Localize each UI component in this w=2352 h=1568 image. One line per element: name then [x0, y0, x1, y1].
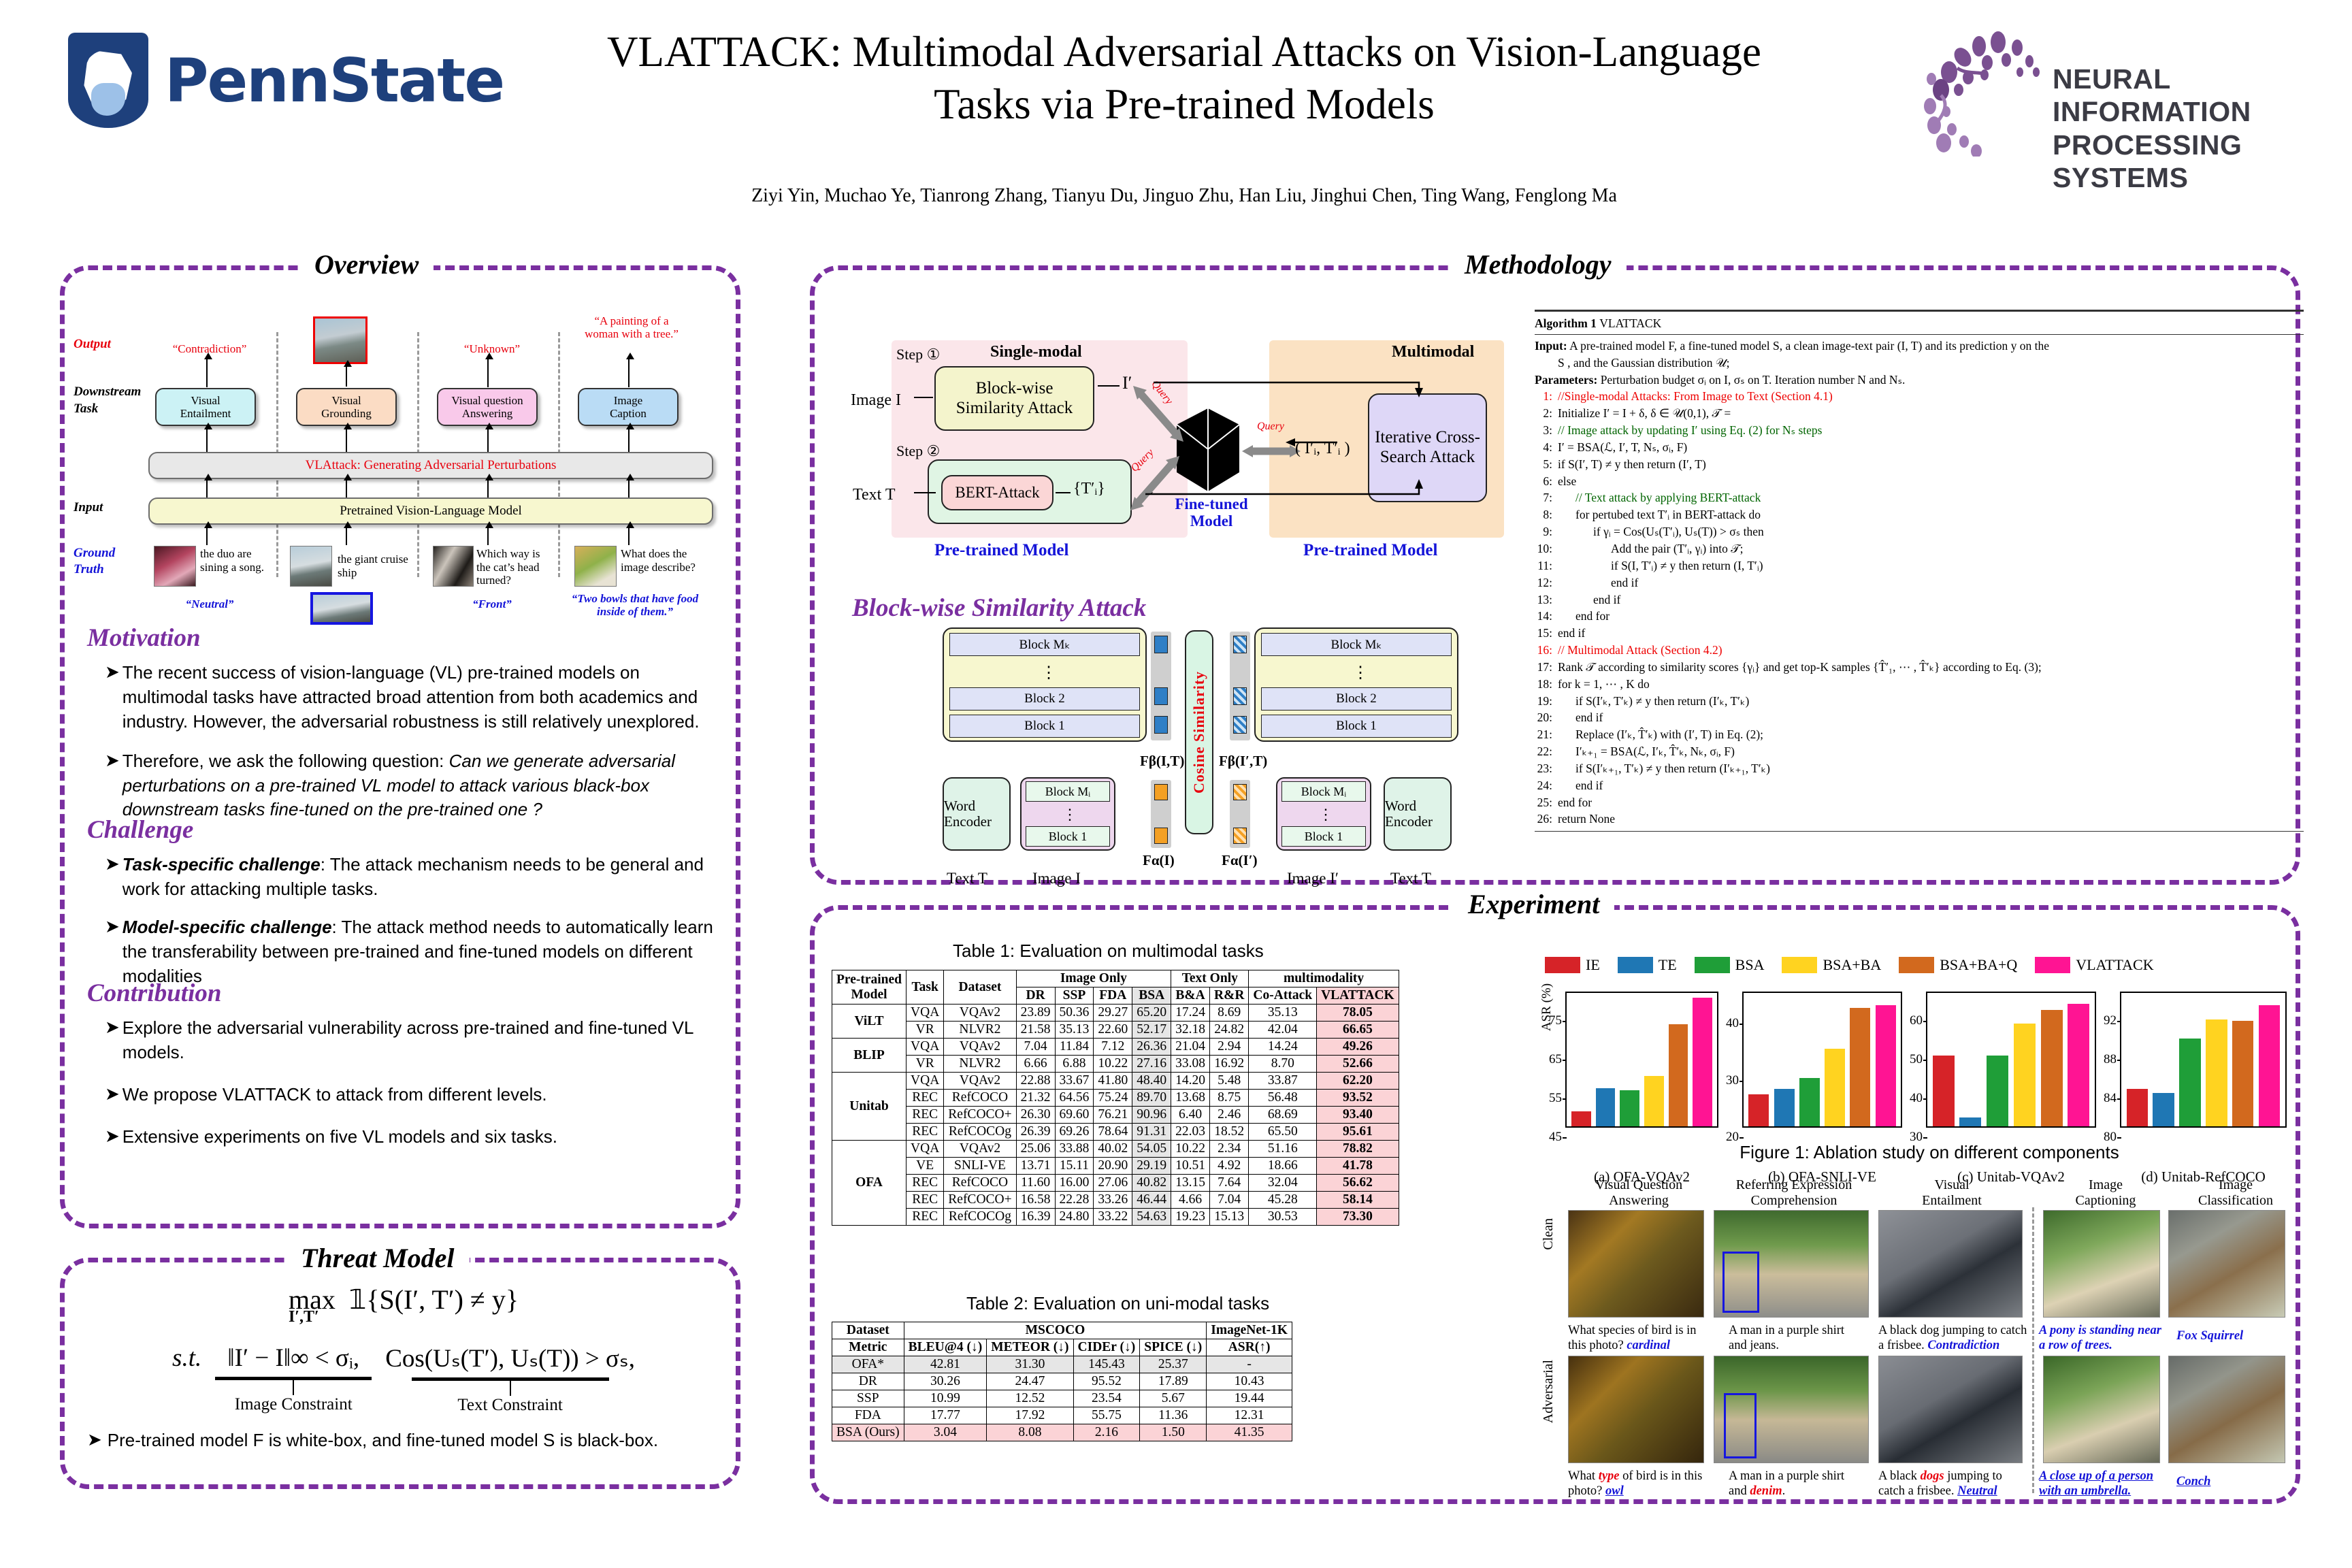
legend-swatch	[1782, 957, 1817, 973]
cell-value: 10.43	[1207, 1373, 1292, 1390]
th-dataset: Dataset	[832, 1322, 904, 1339]
chip-right-1	[1233, 716, 1247, 734]
chip-left-2	[1154, 687, 1168, 705]
chip-right-mk	[1233, 636, 1247, 653]
qual-head-line1: Image	[2164, 1177, 2307, 1193]
table-row: ViLTVQAVQAv223.8950.3629.2765.2017.248.6…	[832, 1004, 1399, 1022]
th-metric: B&A	[1171, 987, 1210, 1004]
bsa-image-right-label: Image I′	[1287, 870, 1339, 887]
qual-head-line1: Visual Question	[1564, 1177, 1714, 1193]
legend-item: VLATTACK	[2035, 956, 2153, 974]
cell-value: 2.94	[1210, 1039, 1249, 1056]
cell-value: 19.44	[1207, 1390, 1292, 1407]
algorithm-line-text: end if	[1558, 574, 1638, 591]
objective-body: 𝟙{S(I′, T′) ≠ y}	[349, 1284, 519, 1315]
title-block: VLATTACK: Multimodal Adversarial Attacks…	[585, 26, 1783, 131]
algorithm-line: 14:end for	[1535, 608, 2304, 625]
cell-value: 10.22	[1171, 1141, 1210, 1158]
cell-value: 14.24	[1249, 1039, 1317, 1056]
qual-clean-image-3	[2043, 1210, 2160, 1318]
cell-value: 93.40	[1317, 1107, 1399, 1124]
cell-value: 10.51	[1171, 1158, 1210, 1175]
cell-value: 12.52	[987, 1390, 1073, 1407]
arrow-input-3	[628, 527, 630, 545]
qual-col-head-0: Visual Question Answering	[1564, 1177, 1714, 1209]
cell-value: 24.80	[1055, 1209, 1094, 1226]
qual-head-line2: Answering	[1564, 1193, 1714, 1209]
task-line-2: Grounding	[321, 407, 372, 420]
algorithm-line-number: 9:	[1535, 523, 1558, 540]
algorithm-line-number: 8:	[1535, 506, 1558, 523]
cell-value: 76.21	[1094, 1107, 1132, 1124]
bsa-left-block-1: Block 1	[949, 715, 1140, 738]
cell-value: 8.69	[1210, 1004, 1249, 1022]
cell-value: 21.32	[1016, 1090, 1055, 1107]
cell-value: 145.43	[1073, 1356, 1140, 1373]
block-wise-similarity-attack-box[interactable]: Block-wise Similarity Attack	[934, 366, 1094, 431]
input-thumbnail-1	[290, 546, 332, 587]
legend-swatch	[1899, 957, 1934, 973]
task-box-visual-grounding[interactable]: Visual Grounding	[296, 388, 397, 426]
th-dataset: Dataset	[944, 970, 1016, 1004]
cell-value: 6.88	[1055, 1056, 1094, 1073]
motivation-bullet-2-lead: Therefore, we ask the following question…	[122, 751, 449, 771]
cell-value: 1.50	[1140, 1424, 1207, 1441]
task-line-1: Visual	[191, 394, 220, 407]
qual-clean-caption-2-accent: Contradiction	[1927, 1339, 1999, 1352]
row-label-downstream: Downstream	[73, 385, 141, 399]
th-metric: Co-Attack	[1249, 987, 1317, 1004]
bar-BSA+BA	[1644, 1076, 1664, 1126]
cell-value: 17.92	[987, 1407, 1073, 1424]
qual-adv-image-2	[1878, 1356, 2023, 1463]
adv-cap-0-pre: What	[1568, 1469, 1599, 1483]
image-constraint-formula: ‖I′ − I‖∞ < σᵢ,	[215, 1343, 372, 1373]
cell-value: 35.13	[1055, 1022, 1094, 1039]
qual-adv-image-4	[2168, 1356, 2285, 1463]
algorithm-header-name: VLATTACK	[1599, 316, 1661, 330]
f-beta-left-label: Fβ(I,T)	[1140, 753, 1184, 770]
input-text-2: Which way is the cat’s head turned?	[476, 547, 557, 587]
qual-clean-bbox-1	[1722, 1252, 1759, 1313]
cell-value: 16.58	[1016, 1192, 1055, 1209]
bar-IE	[1933, 1056, 1955, 1126]
algorithm-line: 15:end if	[1535, 625, 2304, 642]
bar-BSA	[1987, 1056, 2008, 1126]
chart-panel-2: 30405060(c) Unitab-VQAv2	[1926, 992, 2096, 1128]
cell-value: -	[1207, 1356, 1292, 1373]
bullet-arrow-icon: ➤	[105, 1083, 120, 1107]
algorithm-line-text: //Single-modal Attacks: From Image to Te…	[1558, 388, 1833, 405]
algorithm-line-text: return None	[1558, 811, 1615, 828]
cell-value: 16.39	[1016, 1209, 1055, 1226]
cell-value: 78.82	[1317, 1141, 1399, 1158]
f-alpha-right-label: Fα(I′)	[1222, 852, 1258, 869]
algorithm-line-number: 20:	[1535, 709, 1558, 726]
table-row: RECRefCOCO11.6016.0027.0640.8213.157.643…	[832, 1175, 1399, 1192]
table-2-caption: Table 2: Evaluation on uni-modal tasks	[966, 1293, 1269, 1314]
arrow-input-2	[487, 527, 489, 545]
bar-TE	[1596, 1088, 1616, 1126]
cell-value: 21.04	[1171, 1039, 1210, 1056]
y-tick: 50	[1910, 1052, 1927, 1067]
chart-panel-3: 80848892(d) Unitab-RefCOCO	[2120, 992, 2287, 1128]
cell-dataset: VQAv2	[944, 1073, 1016, 1090]
cell-value: 58.14	[1317, 1192, 1399, 1209]
f-beta-right-label: Fβ(I′,T)	[1219, 753, 1267, 770]
bsa-left-small-1: Block 1	[1026, 826, 1110, 847]
bar-IE	[1571, 1111, 1591, 1126]
adv-cap-1-red: denim	[1750, 1484, 1782, 1498]
cell-value: 65.50	[1249, 1124, 1317, 1141]
cell-value: 69.60	[1055, 1107, 1094, 1124]
table-row: RECRefCOCOg26.3969.2678.6491.3122.0318.5…	[832, 1124, 1399, 1141]
multimodal-label: Multimodal	[1392, 343, 1474, 361]
cell-value: 26.30	[1016, 1107, 1055, 1124]
qualitative-column-divider	[2032, 1207, 2034, 1493]
bsa-left-small-mi: Block Mᵢ	[1026, 781, 1110, 802]
task-box-visual-question-answering[interactable]: Visual question Answering	[437, 388, 538, 426]
cell-dataset: NLVR2	[944, 1056, 1016, 1073]
qual-clean-image-1	[1714, 1210, 1869, 1318]
qual-adv-bbox-1	[1724, 1393, 1757, 1458]
motivation-bullet-1-text: The recent success of vision-language (V…	[122, 661, 727, 734]
qual-col-head-3: Image Captioning	[2038, 1177, 2174, 1209]
bsa-right-small-mi: Block Mᵢ	[1281, 781, 1366, 802]
motivation-bullet-2: ➤ Therefore, we ask the following questi…	[105, 749, 727, 823]
cell-value: 40.02	[1094, 1141, 1132, 1158]
cell-value: 5.67	[1140, 1390, 1207, 1407]
cell-value: 8.75	[1210, 1090, 1249, 1107]
chip-alpha-left-mi	[1154, 784, 1168, 800]
cell-value: 91.31	[1132, 1124, 1171, 1141]
text-input-label: Text T	[853, 486, 896, 504]
algorithm-line-number: 26:	[1535, 811, 1558, 828]
cell-dataset: RefCOCO	[944, 1175, 1016, 1192]
algorithm-line-text: Add the pair (T′ᵢ, γᵢ) into 𝒯;	[1558, 540, 1743, 557]
arrow-task-1	[346, 429, 347, 452]
cell-value: 42.81	[904, 1356, 987, 1373]
iterative-cross-search-attack-box[interactable]: Iterative Cross-Search Attack	[1368, 393, 1487, 502]
table-row: RECRefCOCO21.3264.5675.2489.7013.688.755…	[832, 1090, 1399, 1107]
legend-item: IE	[1545, 956, 1600, 974]
legend-swatch	[1545, 957, 1580, 973]
arrow-bert-out	[1056, 492, 1071, 493]
cell-value: 89.70	[1132, 1090, 1171, 1107]
cell-task: REC	[906, 1192, 944, 1209]
overview-figure: Output Downstream Task Input Ground Trut…	[73, 293, 727, 578]
legend-label: IE	[1586, 956, 1600, 974]
table-row: OFAVQAVQAv225.0633.8840.0254.0510.222.34…	[832, 1141, 1399, 1158]
step-1-label: Step ①	[896, 346, 940, 363]
cell-value: 69.26	[1055, 1124, 1094, 1141]
algorithm-line: 4:I′ = BSA(ℒ, I′, T, Nₛ, σᵢ, F)	[1535, 439, 2304, 456]
th-metric-name: BLEU@4 (↓)	[904, 1339, 987, 1356]
th-metric: VLATTACK	[1317, 987, 1399, 1004]
algorithm-line: 6:else	[1535, 473, 2304, 490]
cell-value: 3.04	[904, 1424, 987, 1441]
author-list: Ziyi Yin, Muchao Ye, Tianrong Zhang, Tia…	[585, 185, 1783, 207]
algorithm-line-text: if S(I′ₖ₊₁, T′ₖ) ≠ y then return (I′ₖ₊₁,…	[1558, 760, 1770, 777]
cell-value: 33.67	[1055, 1073, 1094, 1090]
algorithm-line-text: if S(I′ₖ, T′ₖ) ≠ y then return (I′ₖ, T′ₖ…	[1558, 693, 1749, 710]
challenge-1-label: Task-specific challenge	[122, 854, 321, 875]
row-label-truth: Truth	[73, 562, 104, 577]
bar-BSA	[1799, 1078, 1820, 1126]
algorithm-line-text: I′ = BSA(ℒ, I′, T, Nₛ, σᵢ, F)	[1558, 439, 1687, 456]
contribution-section: Contribution ➤ Explore the adversarial v…	[87, 979, 727, 1149]
cell-value: 13.68	[1171, 1090, 1210, 1107]
algorithm-header-bold: Algorithm 1	[1535, 316, 1597, 330]
qual-col-head-1: Referring Expression Comprehension	[1719, 1177, 1869, 1209]
qual-adv-image-3	[2043, 1356, 2160, 1463]
cell-value: 41.80	[1094, 1073, 1132, 1090]
cell-name: DR	[832, 1373, 904, 1390]
chip-left-1	[1154, 716, 1168, 734]
bsa-figure: Block Mₖ ⋮ Block 2 Block 1 Block Mₖ ⋮ Bl…	[854, 599, 1494, 857]
task-line-2: Entailment	[180, 407, 231, 420]
y-tick: 75	[1549, 1013, 1567, 1028]
cell-value: 41.78	[1317, 1158, 1399, 1175]
legend-label: BSA+BA+Q	[1940, 956, 2017, 974]
adv-cap-1-mid: .	[1782, 1484, 1786, 1498]
bsa-right-block-1: Block 1	[1261, 715, 1452, 738]
row-label-input: Input	[73, 500, 103, 515]
cell-value: 14.20	[1171, 1073, 1210, 1090]
bar-IE	[2127, 1089, 2148, 1126]
challenge-bullet-1: ➤ Task-specific challenge: The attack me…	[105, 853, 727, 902]
algorithm-line-text: if γᵢ = Cos(Uₛ(T′ᵢ), Uₛ(T)) > σₛ then	[1558, 523, 1764, 540]
qual-clean-image-4	[2168, 1210, 2285, 1318]
task-box-image-caption[interactable]: Image Caption	[578, 388, 679, 426]
chip-alpha-right-1	[1233, 828, 1247, 844]
algorithm-line: 8:for pertubed text T′ᵢ in BERT-attack d…	[1535, 506, 2304, 523]
algorithm-line-number: 15:	[1535, 625, 1558, 642]
arrow-bar-1	[346, 480, 347, 497]
bert-attack-box[interactable]: BERT-Attack	[941, 475, 1053, 510]
th-mscoco: MSCOCO	[904, 1322, 1207, 1339]
qual-clean-caption-4: Fox Squirrel	[2176, 1328, 2299, 1343]
subject-to-label: s.t.	[172, 1343, 201, 1373]
table-row: VRNLVR221.5835.1322.6052.1732.1824.8242.…	[832, 1022, 1399, 1039]
algorithm-line-number: 13:	[1535, 591, 1558, 608]
text-constraint-label: Text Constraint	[385, 1396, 635, 1415]
qual-head-line1: Visual	[1877, 1177, 2027, 1193]
algorithm-line-text: // Text attack by applying BERT-attack	[1558, 489, 1761, 506]
algorithm-line-text: // Multimodal Attack (Section 4.2)	[1558, 642, 1722, 659]
bar-TE	[2153, 1093, 2174, 1126]
cell-value: 49.26	[1317, 1039, 1399, 1056]
ground-truth-0: “Neutral”	[155, 598, 264, 610]
cell-dataset: RefCOCOg	[944, 1124, 1016, 1141]
objective-subscript: I′,T′	[289, 1308, 319, 1326]
cell-value: 8.70	[1249, 1056, 1317, 1073]
cell-value: 18.52	[1210, 1124, 1249, 1141]
neurips-line-2: PROCESSING SYSTEMS	[2053, 129, 2325, 195]
algorithm-line-text: end if	[1558, 591, 1620, 608]
cell-value: 40.82	[1132, 1175, 1171, 1192]
legend-swatch	[1618, 957, 1653, 973]
qual-col-head-4: Image Classification	[2164, 1177, 2307, 1209]
bar-BSA	[1620, 1090, 1639, 1126]
overview-panel-title: Overview	[299, 248, 434, 280]
penn-state-logo: PennState	[68, 33, 504, 128]
ground-truth-2: “Front”	[441, 598, 543, 610]
algorithm-line-text: end for	[1558, 794, 1592, 811]
chart-legend: IETEBSABSA+BABSA+BA+QVLATTACK	[1545, 956, 2314, 974]
bsa-right-vdots: ⋮	[1352, 663, 1369, 683]
cell-value: 50.36	[1055, 1004, 1094, 1022]
legend-label: BSA+BA	[1823, 956, 1881, 974]
algorithm-line-text: Rank 𝒯 according to similarity scores {γ…	[1558, 659, 2042, 676]
table-row: RECRefCOCOg16.3924.8033.2254.6319.2315.1…	[832, 1209, 1399, 1226]
cell-value: 6.40	[1171, 1107, 1210, 1124]
neurips-line-1: NEURAL INFORMATION	[2053, 63, 2325, 129]
adv-cap-2-pre: A black	[1878, 1469, 1921, 1483]
table-row: BLIPVQAVQAv27.0411.847.1226.3621.042.941…	[832, 1039, 1399, 1056]
step-2-label: Step ②	[896, 442, 940, 460]
y-tick: 65	[1549, 1052, 1567, 1067]
qual-head-line2: Classification	[2164, 1193, 2307, 1209]
cell-value: 19.23	[1171, 1209, 1210, 1226]
contribution-item-0: ➤ Explore the adversarial vulnerability …	[105, 1016, 727, 1065]
cell-value: 5.48	[1210, 1073, 1249, 1090]
algorithm-input-text-b: S , and the Gaussian distribution 𝒰;	[1535, 355, 2304, 372]
algorithm-line: 11:if S(I, T′ᵢ) ≠ y then return (I, T′ᵢ)	[1535, 557, 2304, 574]
cell-task: VQA	[906, 1141, 944, 1158]
algorithm-input-row: Input: A pre-trained model F, a fine-tun…	[1535, 338, 2304, 355]
y-tick: 88	[2104, 1052, 2121, 1067]
legend-swatch	[1695, 957, 1730, 973]
y-tick: 84	[2104, 1091, 2121, 1106]
cell-value: 27.16	[1132, 1056, 1171, 1073]
cell-value: 65.20	[1132, 1004, 1171, 1022]
th-metric: R&R	[1210, 987, 1249, 1004]
cell-dataset: VQAv2	[944, 1039, 1016, 1056]
qual-clean-caption-1: A man in a purple shirt and jeans.	[1729, 1323, 1865, 1353]
bar-group	[2121, 993, 2285, 1126]
adv-cap-3-blue: A close up of a person with an umbrella.	[2039, 1469, 2153, 1498]
bsa-right-block-2: Block 2	[1261, 687, 1452, 710]
cell-value: 29.19	[1132, 1158, 1171, 1175]
adv-cap-0-blue: owl	[1605, 1484, 1624, 1498]
contribution-item-2-text: Extensive experiments on five VL models …	[122, 1125, 557, 1149]
algorithm-lines: 1://Single-modal Attacks: From Image to …	[1535, 388, 2304, 828]
algorithm-line-text: for pertubed text T′ᵢ in BERT-attack do	[1558, 506, 1761, 523]
algorithm-line-number: 11:	[1535, 557, 1558, 574]
contribution-item-1-text: We propose VLATTACK to attack from diffe…	[122, 1083, 547, 1107]
task-box-visual-entailment[interactable]: Visual Entailment	[155, 388, 256, 426]
experiment-panel-title: Experiment	[1453, 888, 1614, 920]
arrow-task-0	[206, 429, 208, 452]
cell-value: 26.36	[1132, 1039, 1171, 1056]
table-row: RECRefCOCO+26.3069.6076.2190.966.402.466…	[832, 1107, 1399, 1124]
cell-value: 46.44	[1132, 1192, 1171, 1209]
algorithm-line: 18:for k = 1, ⋯ , K do	[1535, 676, 2304, 693]
page-title: VLATTACK: Multimodal Adversarial Attacks…	[585, 26, 1783, 131]
cell-value: 2.46	[1210, 1107, 1249, 1124]
qual-clean-caption-1-plain: A man in a purple shirt and jeans.	[1729, 1324, 1844, 1352]
bar-BSA+BA	[1825, 1049, 1845, 1126]
table-1-caption: Table 1: Evaluation on multimodal tasks	[953, 941, 1264, 962]
challenge-bullet-2: ➤ Model-specific challenge: The attack m…	[105, 915, 727, 989]
qual-clean-caption-2: A black dog jumping to catch a frisbee. …	[1878, 1323, 2029, 1353]
qual-adv-image-1	[1714, 1356, 1869, 1463]
pretrained-model-left-label: Pre-trained Model	[934, 541, 1068, 560]
cell-value: 33.88	[1055, 1141, 1094, 1158]
cell-value: 51.16	[1249, 1141, 1317, 1158]
algorithm-line-text: for k = 1, ⋯ , K do	[1558, 676, 1650, 693]
algorithm-line: 3:// Image attack by updating I′ using E…	[1535, 422, 2304, 439]
bar-group	[1927, 993, 2095, 1126]
input-thumbnail-3	[574, 546, 617, 587]
chip-alpha-right-mi	[1233, 784, 1247, 800]
word-encoder-left: Word Encoder	[943, 777, 1011, 851]
algorithm-line-text: end if	[1558, 777, 1603, 794]
cell-value: 17.77	[904, 1407, 987, 1424]
algorithm-line-number: 23:	[1535, 760, 1558, 777]
bar-VLATTACK	[2259, 1005, 2280, 1126]
bsa-text-right-label: Text T	[1390, 870, 1431, 887]
algorithm-params-text: Perturbation budget σᵢ on I, σₛ on T. It…	[1601, 373, 1906, 387]
bar-BSA+BA	[2014, 1024, 2036, 1126]
contribution-heading: Contribution	[87, 979, 727, 1008]
table-1: Pre-trainedModelTaskDatasetImage OnlyTex…	[832, 970, 1399, 1226]
arrow-output-3	[628, 359, 630, 387]
bsa-right-small-1: Block 1	[1281, 826, 1366, 847]
contribution-item-0-text: Explore the adversarial vulnerability ac…	[122, 1016, 727, 1065]
algorithm-line-text: if S(I, T′ᵢ) ≠ y then return (I, T′ᵢ)	[1558, 557, 1763, 574]
bar-VLATTACK	[2068, 1004, 2089, 1126]
cell-task: VE	[906, 1158, 944, 1175]
row-label-output: Output	[73, 337, 111, 352]
cell-value: 20.90	[1094, 1158, 1132, 1175]
threat-note-text: Pre-trained model F is white-box, and fi…	[108, 1430, 658, 1451]
cell-value: 7.04	[1210, 1192, 1249, 1209]
algorithm-line-text: // Image attack by updating I′ using Eq.…	[1558, 422, 1822, 439]
algorithm-line-number: 16:	[1535, 642, 1558, 659]
cell-value: 13.15	[1171, 1175, 1210, 1192]
chart-panel-1: 203040(b) OFA-SNLI-VE	[1742, 992, 1902, 1128]
cell-value: 16.00	[1055, 1175, 1094, 1192]
cell-value: 75.24	[1094, 1090, 1132, 1107]
motivation-heading: Motivation	[87, 623, 727, 653]
arrow-input-1	[346, 527, 347, 545]
cell-value: 8.08	[987, 1424, 1073, 1441]
algorithm-line: 26:return None	[1535, 811, 2304, 828]
text-constraint-formula: Cos(Uₛ(T′), Uₛ(T)) > σₛ,	[385, 1343, 635, 1373]
cell-value: 33.26	[1094, 1192, 1132, 1209]
cell-value: 35.13	[1249, 1004, 1317, 1022]
challenge-heading: Challenge	[87, 815, 727, 845]
algorithm-rule-mid	[1535, 334, 2304, 335]
cell-name: OFA*	[832, 1356, 904, 1373]
challenge-section: Challenge ➤ Task-specific challenge: The…	[87, 815, 727, 988]
bullet-arrow-icon: ➤	[105, 915, 120, 989]
algorithm-line: 12:end if	[1535, 574, 2304, 591]
legend-label: TE	[1659, 956, 1677, 974]
image-brace-stem	[293, 1380, 294, 1395]
word-encoder-right: Word Encoder	[1384, 777, 1452, 851]
bar-BSA+BA	[2206, 1019, 2227, 1126]
poster-header: PennState VLATTACK: Multimodal Adversari…	[0, 0, 2352, 225]
adv-cap-0-red: type	[1599, 1469, 1620, 1483]
methodology-panel-title: Methodology	[1450, 248, 1627, 280]
table-row: FDA17.7717.9255.7511.3612.31	[832, 1407, 1292, 1424]
algorithm-line-number: 21:	[1535, 726, 1558, 743]
neurips-swirl-icon	[1916, 27, 2053, 157]
algorithm-line-number: 1:	[1535, 388, 1558, 405]
